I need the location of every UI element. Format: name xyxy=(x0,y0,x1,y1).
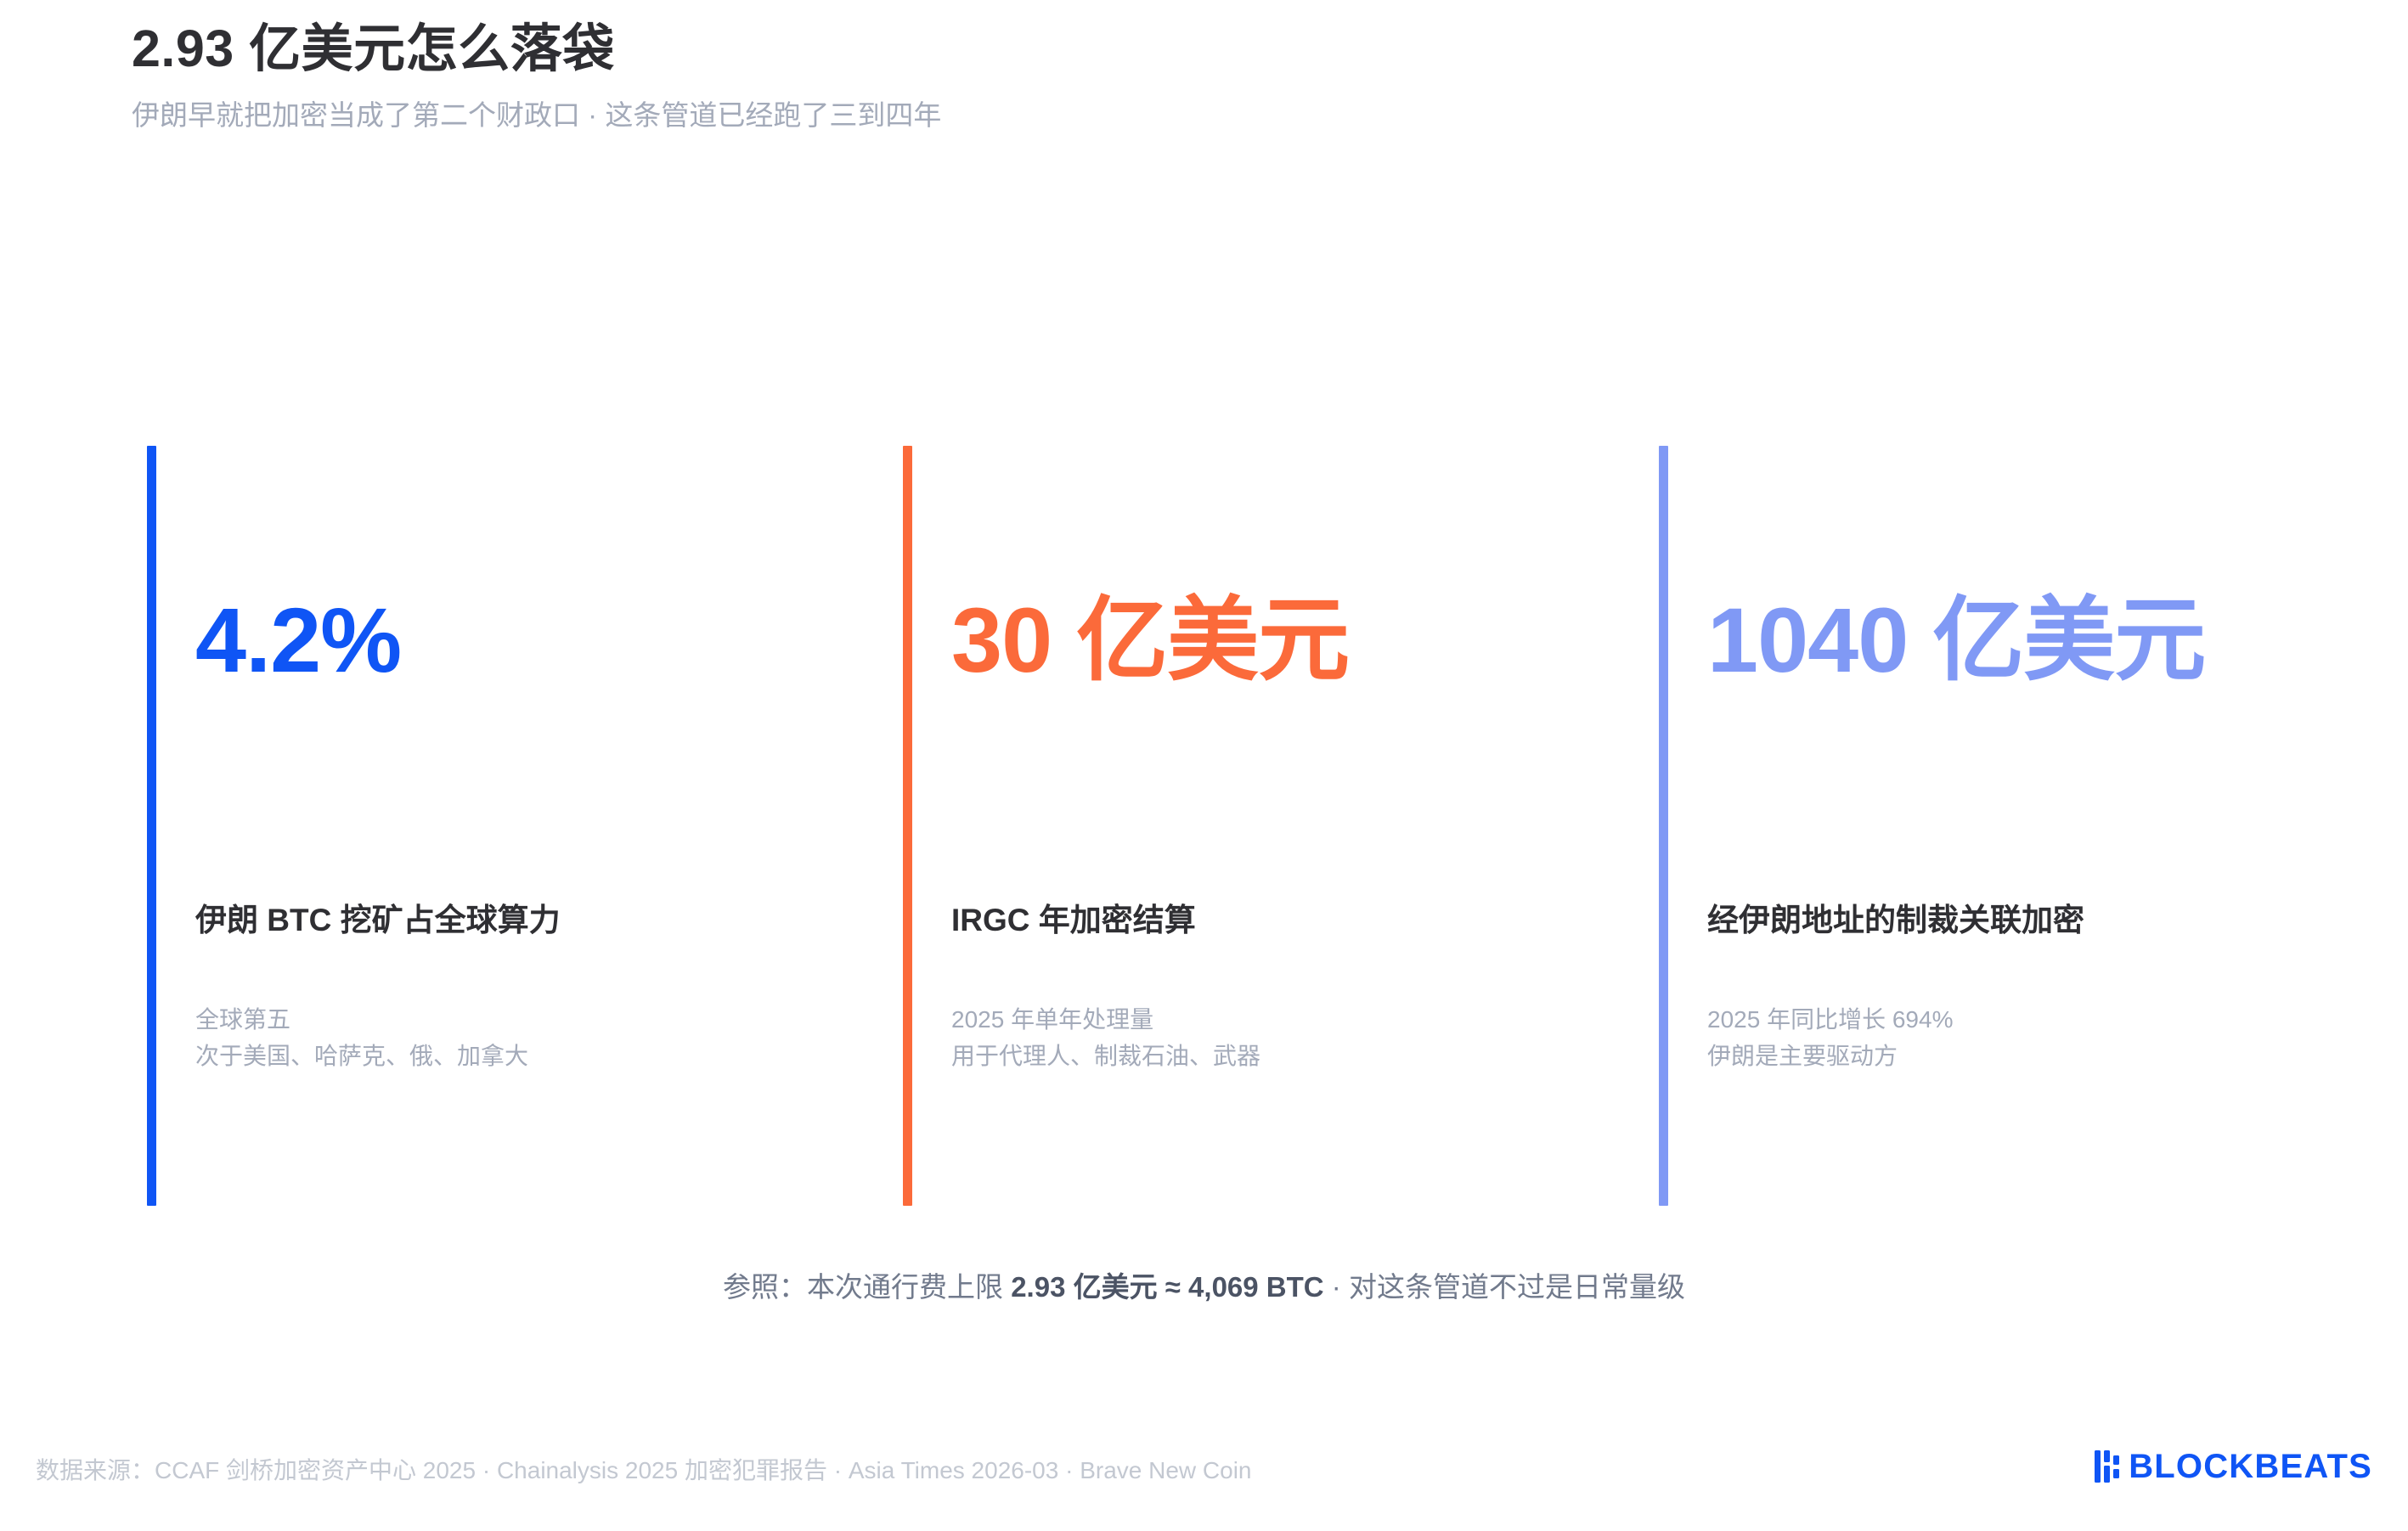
accent-bar xyxy=(1659,446,1668,1206)
footnote-prefix: 参照：本次通行费上限 xyxy=(723,1271,1011,1303)
footer: 数据来源：CCAF 剑桥加密资产中心 2025 · Chainalysis 20… xyxy=(0,1454,2408,1505)
stat-card-sanctioned-crypto: 1040 亿美元 经伊朗地址的制裁关联加密 2025 年同比增长 694% 伊朗… xyxy=(1659,446,2406,1210)
source-citation: 数据来源：CCAF 剑桥加密资产中心 2025 · Chainalysis 20… xyxy=(36,1454,1252,1487)
stat-note-line: 2025 年同比增长 694% xyxy=(1707,1002,1953,1038)
stat-notes: 2025 年同比增长 694% 伊朗是主要驱动方 xyxy=(1707,1002,1953,1074)
stat-card-irgc-settlement: 30 亿美元 IRGC 年加密结算 2025 年单年处理量 用于代理人、制裁石油… xyxy=(903,446,1659,1210)
stat-note-line: 次于美国、哈萨克、俄、加拿大 xyxy=(195,1038,528,1075)
stat-label: IRGC 年加密结算 xyxy=(951,900,1196,941)
footnote: 参照：本次通行费上限 2.93 亿美元 ≈ 4,069 BTC · 对这条管道不… xyxy=(0,1268,2408,1307)
stat-note-line: 用于代理人、制裁石油、武器 xyxy=(951,1038,1260,1075)
stat-label: 经伊朗地址的制裁关联加密 xyxy=(1707,900,2084,941)
stat-label: 伊朗 BTC 挖矿占全球算力 xyxy=(195,900,561,941)
stat-note-line: 全球第五 xyxy=(195,1002,528,1038)
stat-notes: 全球第五 次于美国、哈萨克、俄、加拿大 xyxy=(195,1002,528,1074)
accent-bar xyxy=(903,446,912,1206)
stats-row: 4.2% 伊朗 BTC 挖矿占全球算力 全球第五 次于美国、哈萨克、俄、加拿大 … xyxy=(0,446,2408,1210)
header: 2.93 亿美元怎么落袋 伊朗早就把加密当成了第二个财政口 · 这条管道已经跑了… xyxy=(132,19,2170,135)
footnote-emphasis: 2.93 亿美元 ≈ 4,069 BTC xyxy=(1011,1271,1323,1303)
blockbeats-wordmark: BLOCKBEATS xyxy=(2129,1449,2372,1483)
stat-card-mining-share: 4.2% 伊朗 BTC 挖矿占全球算力 全球第五 次于美国、哈萨克、俄、加拿大 xyxy=(147,446,903,1210)
stat-note-line: 伊朗是主要驱动方 xyxy=(1707,1038,1953,1075)
page-title: 2.93 亿美元怎么落袋 xyxy=(132,19,2170,80)
stat-note-line: 2025 年单年处理量 xyxy=(951,1002,1260,1038)
footnote-suffix: · 对这条管道不过是日常量级 xyxy=(1324,1271,1685,1303)
stat-notes: 2025 年单年处理量 用于代理人、制裁石油、武器 xyxy=(951,1002,1260,1074)
blockbeats-mark-icon xyxy=(2095,1449,2120,1484)
accent-bar xyxy=(147,446,156,1206)
infographic-page: 2.93 亿美元怎么落袋 伊朗早就把加密当成了第二个财政口 · 这条管道已经跑了… xyxy=(0,0,2408,1531)
stat-value: 4.2% xyxy=(195,594,401,686)
blockbeats-logo: BLOCKBEATS xyxy=(2095,1449,2372,1484)
page-subtitle: 伊朗早就把加密当成了第二个财政口 · 这条管道已经跑了三到四年 xyxy=(132,96,2170,135)
stat-value: 1040 亿美元 xyxy=(1707,594,2205,686)
stat-value: 30 亿美元 xyxy=(951,594,1349,686)
